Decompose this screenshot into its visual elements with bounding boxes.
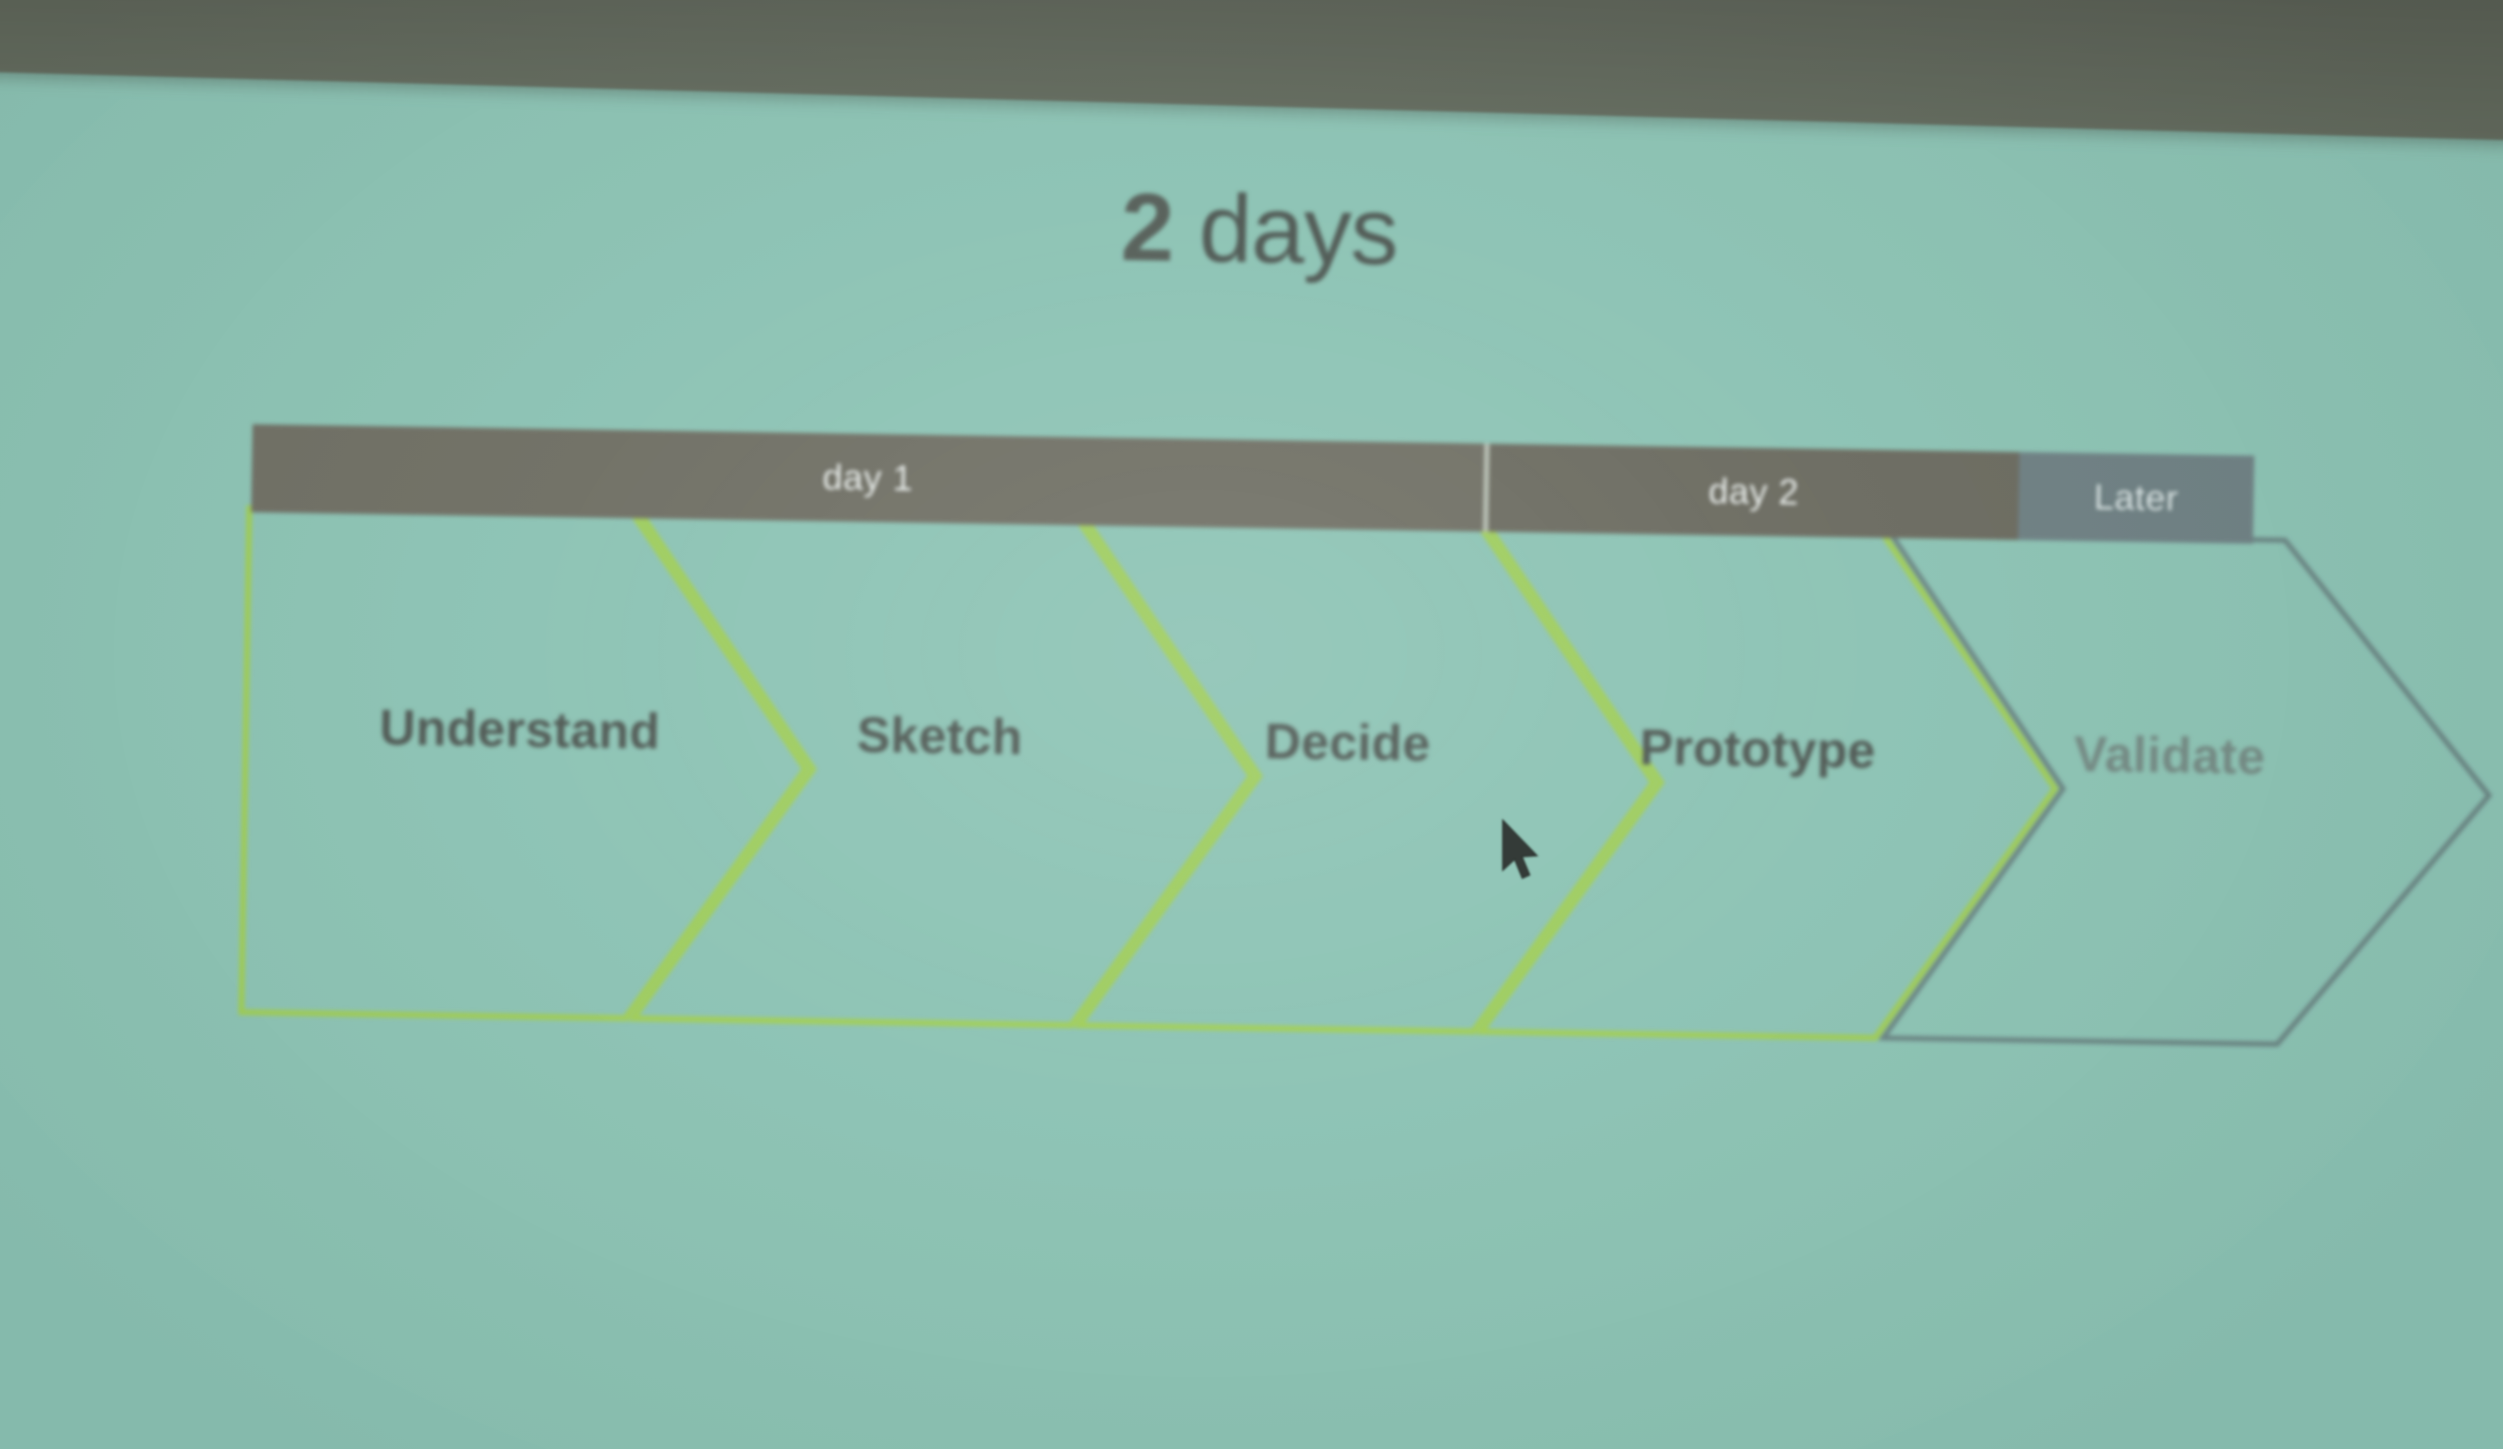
title-number: 2 xyxy=(1120,174,1174,282)
timeline-segment-day-2-label: day 2 xyxy=(1708,470,1799,513)
projection-screen-photo: 2 days day 1 day 2 Later xyxy=(0,0,2503,1449)
page-title: 2 days xyxy=(7,162,2503,297)
presentation-slide: 2 days day 1 day 2 Later xyxy=(0,0,2503,1449)
mouse-cursor xyxy=(1498,818,1544,891)
timeline-segment-day-2[interactable]: day 2 xyxy=(1488,444,2019,540)
timeline-segment-later[interactable]: Later xyxy=(2018,452,2254,544)
timeline-segment-day-1-label: day 1 xyxy=(822,456,913,499)
arrow-pointer-icon xyxy=(1498,818,1544,886)
chevron-understand-shape[interactable] xyxy=(241,508,809,1021)
chevron-validate-shape[interactable] xyxy=(1883,534,2493,1047)
chevron-decide-shape[interactable] xyxy=(1079,521,1657,1034)
process-chevron-diagram: Understand Sketch Decide Prototype Valid… xyxy=(235,500,2503,1055)
chevron-prototype-shape[interactable] xyxy=(1481,528,2059,1041)
timeline-segment-later-label: Later xyxy=(2094,476,2179,519)
chevron-label-validate: Validate xyxy=(1889,722,2450,789)
chevron-sketch-shape[interactable] xyxy=(633,514,1255,1028)
title-word: days xyxy=(1198,175,1398,285)
